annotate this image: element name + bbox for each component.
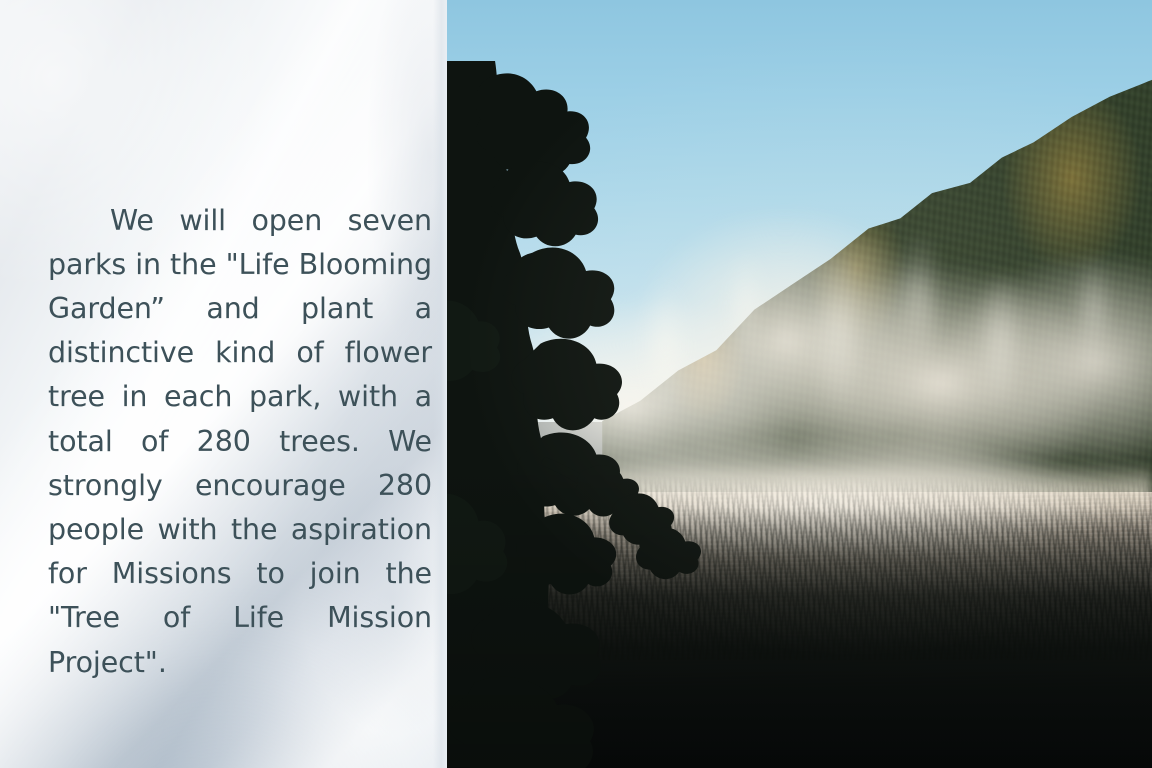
slide-canvas: We will open seven parks in the "Life Bl… (0, 0, 1152, 768)
panel-right-edge-fade (433, 0, 447, 768)
text-panel: We will open seven parks in the "Life Bl… (0, 0, 447, 768)
body-paragraph: We will open seven parks in the "Life Bl… (48, 199, 432, 685)
lake-mist-photograph (447, 0, 1152, 768)
foreground-tree-silhouette (447, 61, 743, 768)
